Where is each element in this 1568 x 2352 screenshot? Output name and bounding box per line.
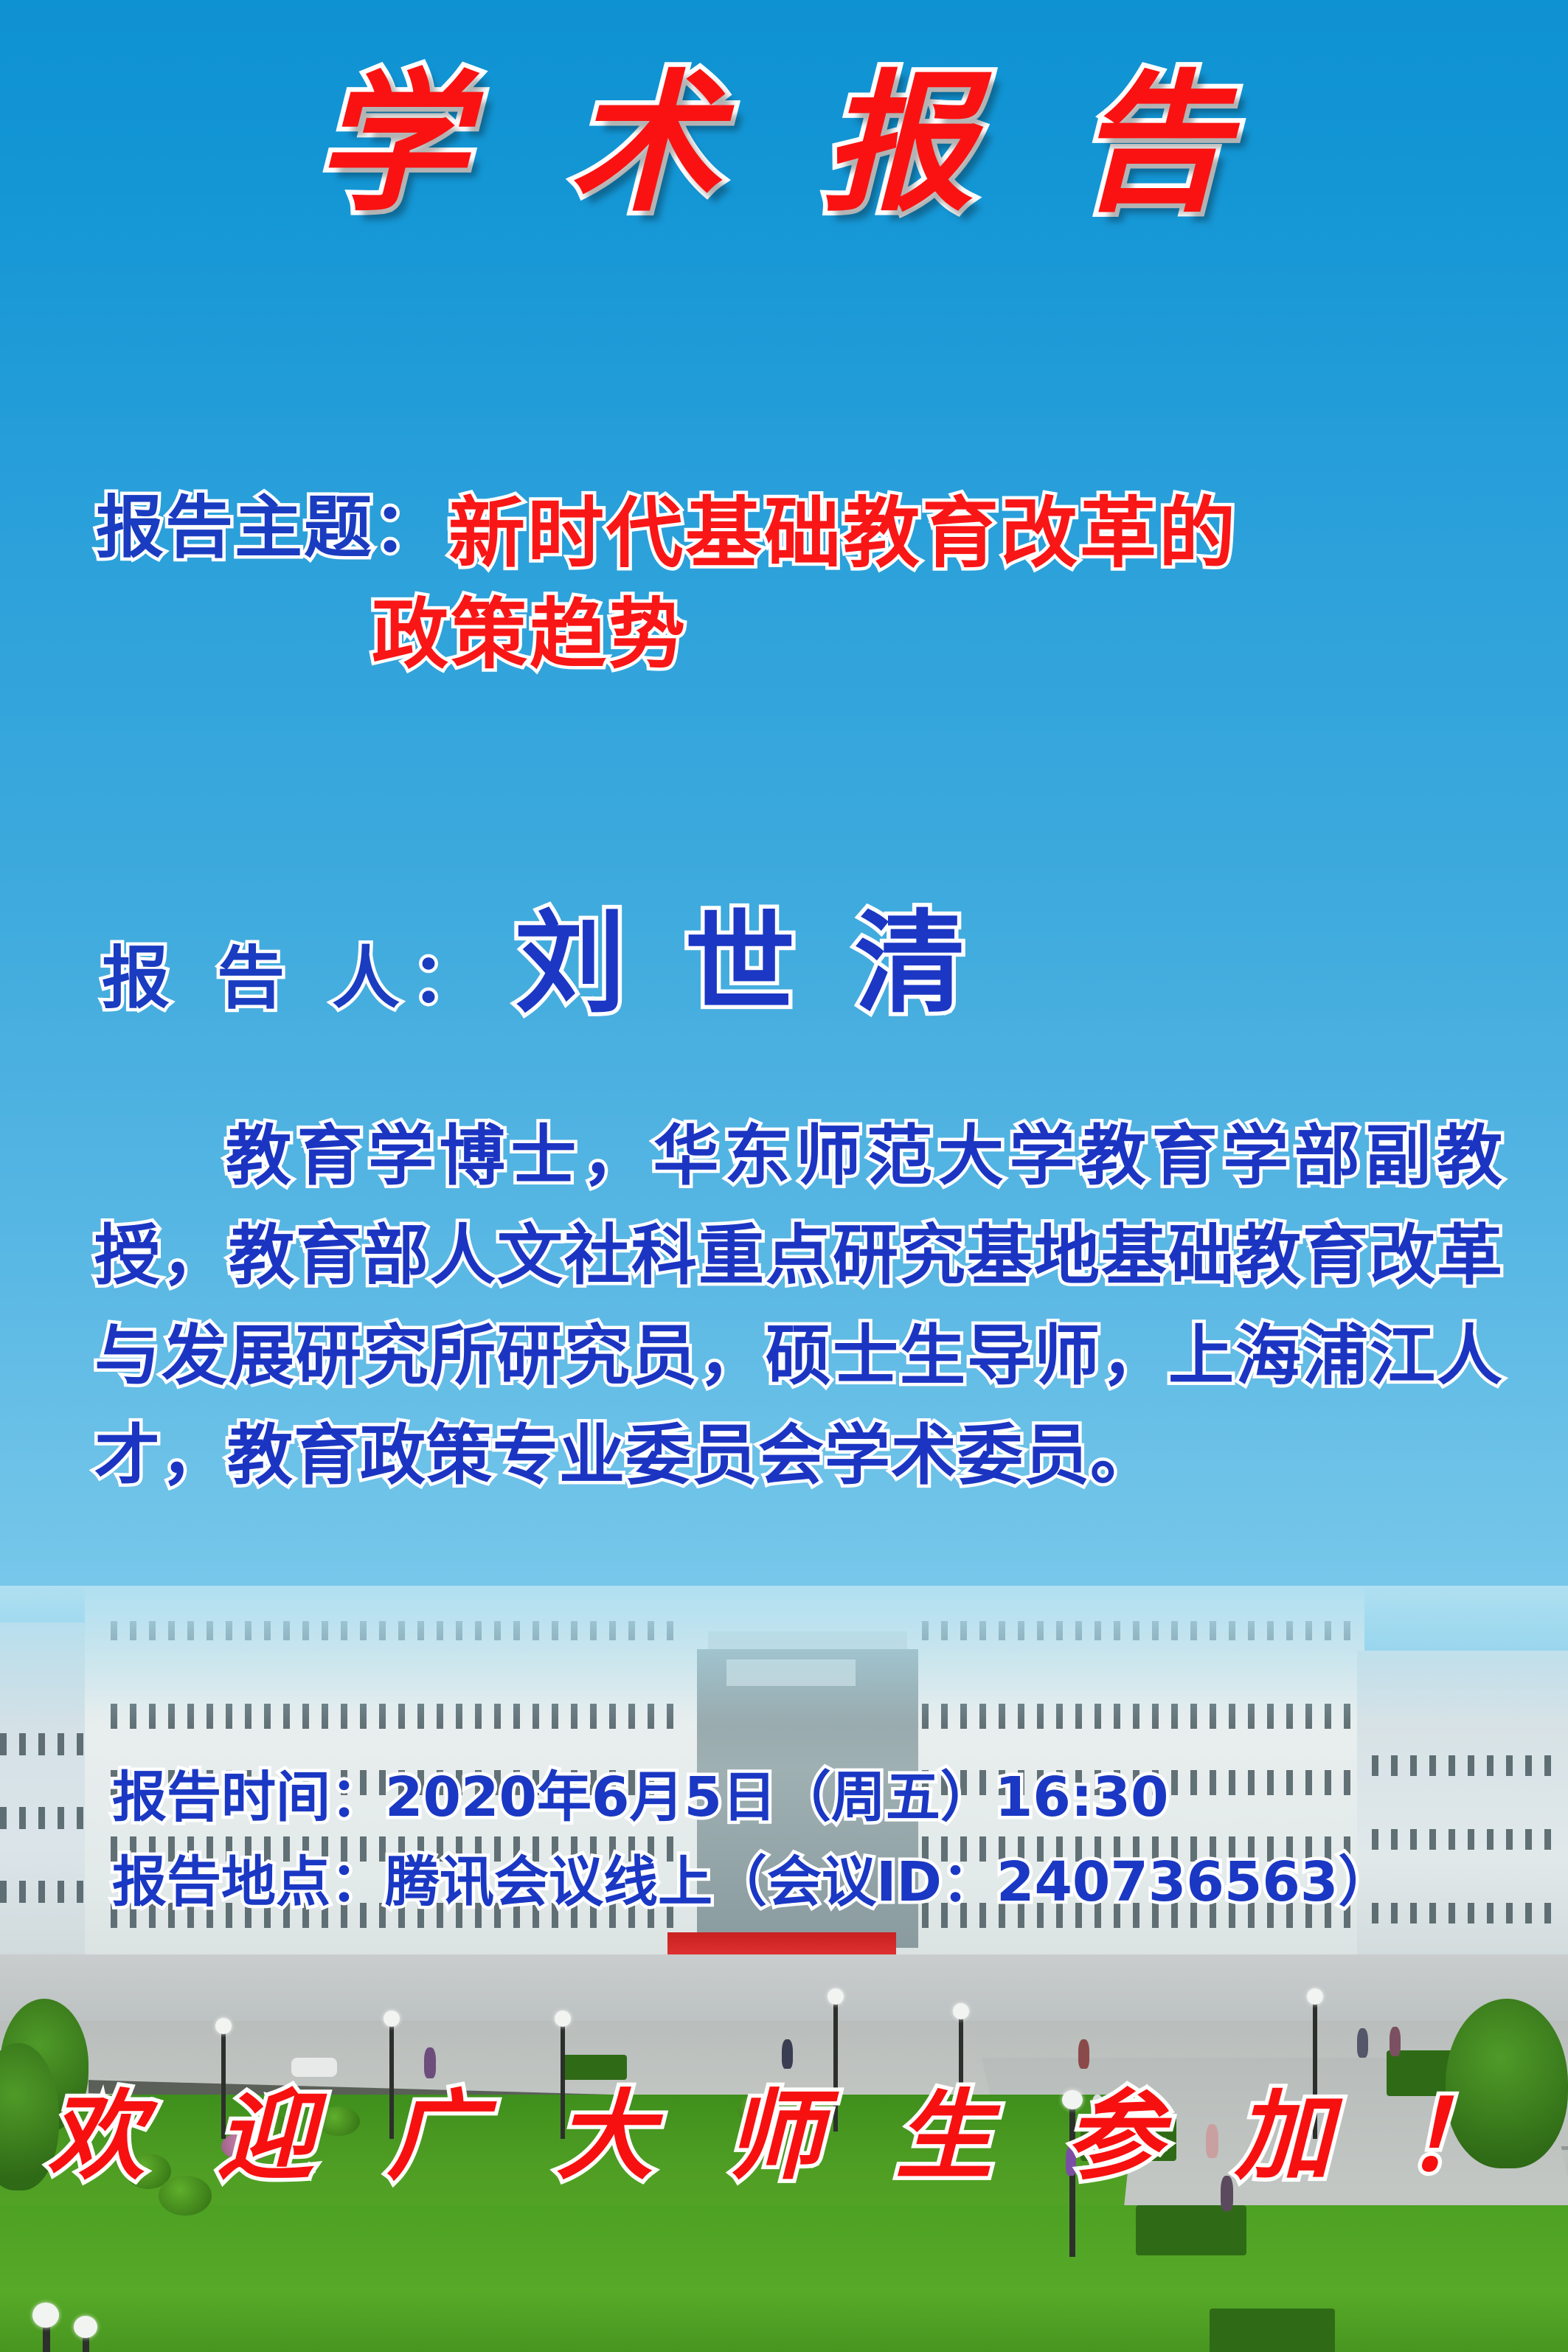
topic-label: 报告主题： xyxy=(96,483,443,572)
lecture-time: 报告时间：2020年6月5日（周五）16:30 xyxy=(112,1755,1509,1840)
page-title: 学 术 报 告 xyxy=(0,65,1568,223)
topic-value-line1: 新时代基础教育改革的 xyxy=(448,483,1238,584)
speaker-name: 刘 世 清 xyxy=(515,874,975,1034)
lecture-place: 报告地点：腾讯会议线上（会议ID：240736563） xyxy=(112,1840,1509,1925)
topic-value-line2: 政策趋势 xyxy=(372,584,1509,685)
topic-block: 报告主题： 新时代基础教育改革的 政策趋势 xyxy=(96,483,1509,686)
speaker-bio: 教育学博士，华东师范大学教育学部副教授，教育部人文社科重点研究基地基础教育改革与… xyxy=(94,1106,1503,1505)
poster-content: 学 术 报 告 报告主题： 新时代基础教育改革的 政策趋势 报 告 人： 刘 世… xyxy=(0,0,1568,2352)
welcome-message: 欢 迎 广 大 师 生 参 加 ！ xyxy=(0,2058,1568,2199)
speaker-label: 报 告 人： xyxy=(102,923,491,1021)
speaker-block: 报 告 人： 刘 世 清 xyxy=(102,874,976,1034)
academic-lecture-poster: 学 术 报 告 报告主题： 新时代基础教育改革的 政策趋势 报 告 人： 刘 世… xyxy=(0,0,1568,2352)
topic-first-row: 报告主题： 新时代基础教育改革的 xyxy=(96,483,1509,584)
meta-block: 报告时间：2020年6月5日（周五）16:30 报告地点：腾讯会议线上（会议ID… xyxy=(112,1755,1509,1926)
